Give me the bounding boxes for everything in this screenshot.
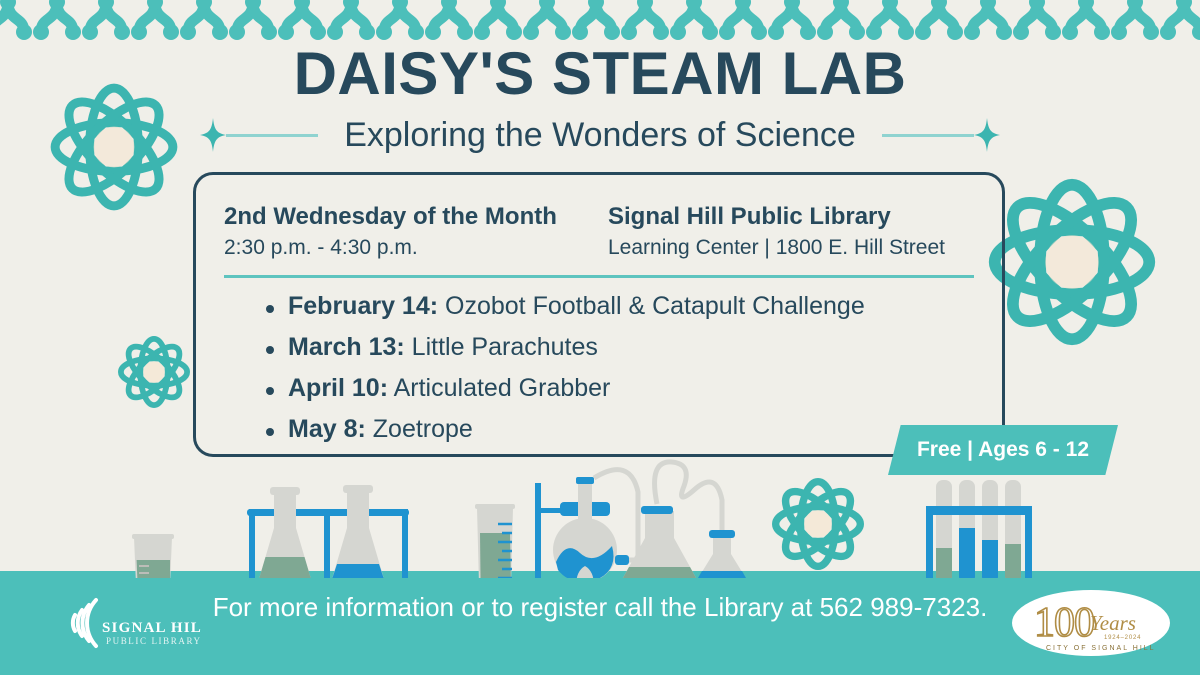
graduated-cylinder-icon <box>475 504 515 585</box>
session-date: April 10: <box>288 374 388 402</box>
session-date: May 8: <box>288 415 366 443</box>
meeting-time: 2:30 p.m. - 4:30 p.m. <box>224 233 608 262</box>
card-header: 2nd Wednesday of the Month 2:30 p.m. - 4… <box>196 175 1002 263</box>
sparkle-rule <box>226 134 318 137</box>
status-badge: Free | Ages 6 - 12 <box>888 425 1118 475</box>
list-item: May 8: Zoetrope <box>266 417 1002 442</box>
seal-number: 100 <box>1034 600 1094 646</box>
session-activity: Articulated Grabber <box>394 374 611 402</box>
card-divider <box>224 275 974 278</box>
location-column: Signal Hill Public Library Learning Cent… <box>608 201 1002 263</box>
distillation-apparatus-icon <box>535 470 638 586</box>
library-logo: SIGNAL HILL PUBLIC LIBRARY <box>62 592 202 654</box>
library-logo-name: SIGNAL HILL <box>102 620 202 636</box>
badge-label: Free | Ages 6 - 12 <box>917 438 1089 462</box>
list-item: April 10: Articulated Grabber <box>266 376 1002 401</box>
flask-icon <box>332 485 385 586</box>
molecule-border-pattern <box>0 0 1200 48</box>
library-logo-tagline: PUBLIC LIBRARY <box>106 636 202 646</box>
seal-city: CITY OF SIGNAL HILL <box>1046 645 1156 652</box>
page-subtitle: Exploring the Wonders of Science <box>318 116 882 155</box>
flask-icon <box>259 487 312 586</box>
list-item: February 14: Ozobot Football & Catapult … <box>266 294 1002 319</box>
meeting-frequency: 2nd Wednesday of the Month <box>224 201 608 233</box>
header: DAISY'S STEAM LAB Exploring the Wonders … <box>0 42 1200 155</box>
subtitle-row: Exploring the Wonders of Science <box>0 116 1200 155</box>
seal-years-word: Years <box>1090 611 1136 635</box>
session-list: February 14: Ozobot Football & Catapult … <box>266 294 1002 442</box>
flask-icon <box>694 530 750 585</box>
info-card: 2nd Wednesday of the Month 2:30 p.m. - 4… <box>193 172 1005 457</box>
anniversary-seal: 100 Years 1924–2024 CITY OF SIGNAL HILL <box>1012 590 1170 656</box>
venue-name: Signal Hill Public Library <box>608 201 1002 233</box>
session-activity: Little Parachutes <box>412 333 598 361</box>
atom-icon <box>118 336 190 408</box>
sparkle-rule <box>882 134 974 137</box>
session-date: February 14: <box>288 292 438 320</box>
session-activity: Ozobot Football & Catapult Challenge <box>445 292 865 320</box>
atom-icon <box>988 178 1156 346</box>
schedule-column: 2nd Wednesday of the Month 2:30 p.m. - 4… <box>196 201 608 263</box>
sparkle-right <box>882 118 1000 152</box>
venue-address: Learning Center | 1800 E. Hill Street <box>608 233 1002 262</box>
flask-rack-icon <box>247 485 409 586</box>
sparkle-icon <box>974 118 1000 152</box>
sparkle-icon <box>200 118 226 152</box>
page-title: DAISY'S STEAM LAB <box>0 42 1200 107</box>
session-date: March 13: <box>288 333 405 361</box>
session-activity: Zoetrope <box>373 415 473 443</box>
seal-year-range: 1924–2024 <box>1104 635 1141 641</box>
sparkle-left <box>200 118 318 152</box>
list-item: March 13: Little Parachutes <box>266 335 1002 360</box>
